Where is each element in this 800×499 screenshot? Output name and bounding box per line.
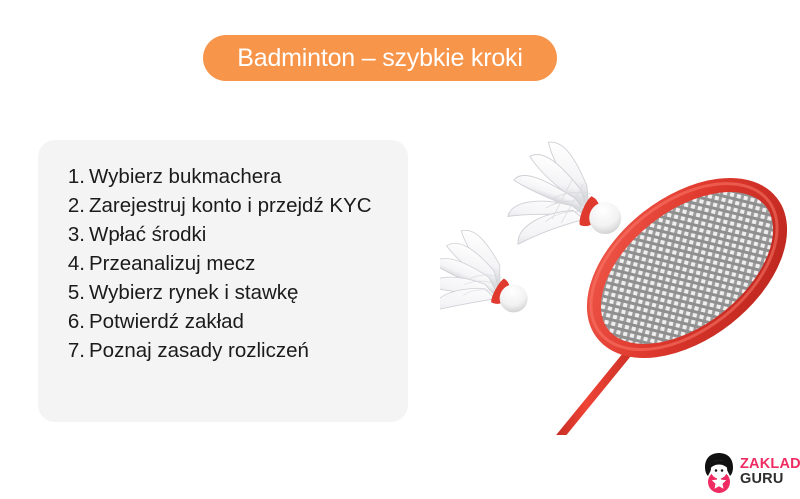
list-item: 2. Zarejestruj konto i przejdź KYC xyxy=(63,191,372,220)
steps-list: 1. Wybierz bukmachera 2. Zarejestruj kon… xyxy=(63,162,372,365)
list-item-number: 6. xyxy=(63,307,85,336)
list-item: 4. Przeanalizuj mecz xyxy=(63,249,372,278)
logo-wordmark: ZAKLADY GURU xyxy=(740,457,800,487)
shuttlecock-icon xyxy=(440,222,545,348)
list-item-label: Zarejestruj konto i przejdź KYC xyxy=(89,191,372,220)
logo-word-top: ZAKLADY xyxy=(740,457,800,472)
list-item-label: Wybierz bukmachera xyxy=(89,162,281,191)
list-item-label: Potwierdź zakład xyxy=(89,307,244,336)
list-item: 5. Wybierz rynek i stawkę xyxy=(63,278,372,307)
brand-logo: ZAKLADY GURU xyxy=(700,449,795,495)
list-item-number: 1. xyxy=(63,162,85,191)
list-item-number: 5. xyxy=(63,278,85,307)
logo-word-bottom: GURU xyxy=(740,472,800,487)
steps-card: 1. Wybierz bukmachera 2. Zarejestruj kon… xyxy=(38,140,408,422)
list-item-number: 4. xyxy=(63,249,85,278)
list-item-number: 7. xyxy=(63,336,85,365)
page-title: Badminton – szybkie kroki xyxy=(237,46,522,71)
list-item-label: Wybierz rynek i stawkę xyxy=(89,278,298,307)
list-item: 6. Potwierdź zakład xyxy=(63,307,372,336)
list-item: 3. Wpłać środki xyxy=(63,220,372,249)
page-title-pill: Badminton – szybkie kroki xyxy=(203,35,557,81)
list-item-number: 2. xyxy=(63,191,85,220)
list-item-label: Poznaj zasady rozliczeń xyxy=(89,336,309,365)
mascot-icon xyxy=(700,451,738,493)
list-item: 1. Wybierz bukmachera xyxy=(63,162,372,191)
badminton-racket-icon xyxy=(440,115,800,435)
list-item-number: 3. xyxy=(63,220,85,249)
list-item-label: Wpłać środki xyxy=(89,220,206,249)
list-item: 7. Poznaj zasady rozliczeń xyxy=(63,336,372,365)
list-item-label: Przeanalizuj mecz xyxy=(89,249,255,278)
